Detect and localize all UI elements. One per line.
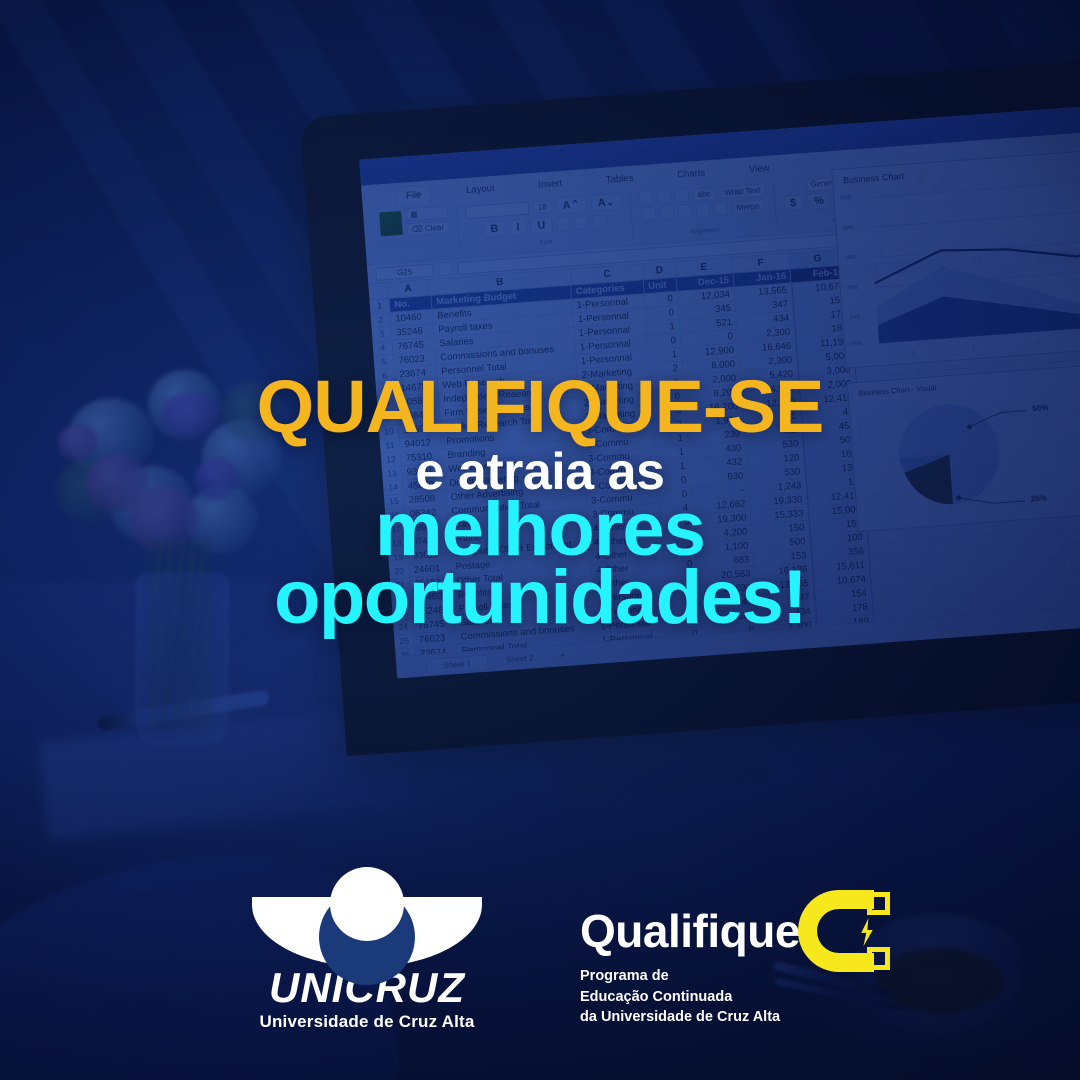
unicruz-tagline: Universidade de Cruz Alta [232, 1012, 502, 1032]
headline-line-4: oportunidades! [0, 562, 1080, 633]
qualifique-subtitle: Programa de Educação Continuada da Unive… [580, 966, 910, 1028]
headline-line-1: QUALIFIQUE-SE [0, 372, 1080, 442]
qualifique-wordmark-row: Qualifique [580, 900, 910, 962]
qualifique-wordmark: Qualifique [580, 905, 800, 957]
headline-block: QUALIFIQUE-SE e atraia as melhores oport… [0, 372, 1080, 633]
unicruz-u-mark-icon [252, 871, 482, 967]
promotional-poster: Template1 File Layout Insert Tables Char… [0, 0, 1080, 1080]
qualifique-subtitle-line-2: Educação Continuada [580, 987, 910, 1008]
unicruz-logo: UNICRUZ Universidade de Cruz Alta [232, 871, 502, 1032]
magnet-c-icon [798, 890, 888, 972]
qualifique-subtitle-line-3: da Universidade de Cruz Alta [580, 1007, 910, 1028]
qualifique-logo: Qualifique Programa de Educação Continua… [580, 900, 910, 1028]
logo-row: UNICRUZ Universidade de Cruz Alta Qualif… [0, 882, 1080, 1032]
